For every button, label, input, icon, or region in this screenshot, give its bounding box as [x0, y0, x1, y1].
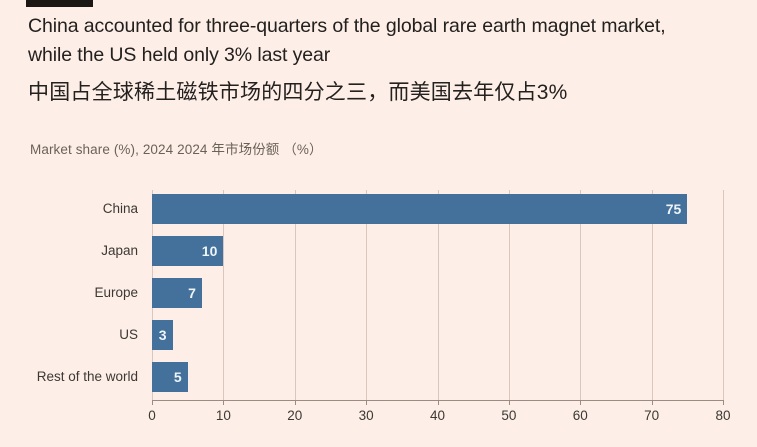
bar-value-rest-of-the-world: 5: [158, 362, 182, 392]
bar-row: US3: [152, 320, 723, 350]
category-label-us: US: [0, 320, 138, 350]
bar-value-japan: 10: [193, 236, 217, 266]
bar-row: Japan10: [152, 236, 723, 266]
x-tick-mark-40: [438, 400, 439, 405]
bar-chart: China75Japan10Europe7US3Rest of the worl…: [0, 176, 757, 438]
x-tick-mark-60: [580, 400, 581, 405]
x-tick-label-60: 60: [573, 408, 588, 423]
plot-area: China75Japan10Europe7US3Rest of the worl…: [152, 190, 723, 400]
x-tick-mark-20: [295, 400, 296, 405]
x-tick-label-20: 20: [287, 408, 302, 423]
bar-value-us: 3: [152, 320, 173, 350]
headline-english-line2: while the US held only 3% last year: [28, 44, 330, 66]
publisher-logo-crop: [26, 0, 93, 7]
bar-row: Europe7: [152, 278, 723, 308]
gridline-80: [723, 190, 724, 400]
category-label-rest-of-the-world: Rest of the world: [0, 362, 138, 392]
bar-row: Rest of the world5: [152, 362, 723, 392]
header-block: China accounted for three-quarters of th…: [28, 12, 740, 108]
x-tick-label-80: 80: [715, 408, 730, 423]
headline-english: China accounted for three-quarters of th…: [28, 12, 740, 70]
x-tick-mark-50: [509, 400, 510, 405]
x-tick-label-10: 10: [216, 408, 231, 423]
chart-subtitle: Market share (%), 2024 2024 年市场份额 （%）: [30, 138, 323, 158]
category-label-japan: Japan: [0, 236, 138, 266]
headline-english-line1: China accounted for three-quarters of th…: [28, 15, 666, 37]
x-tick-label-30: 30: [359, 408, 374, 423]
category-label-china: China: [0, 194, 138, 224]
bar-china[interactable]: [152, 194, 687, 224]
x-tick-label-40: 40: [430, 408, 445, 423]
x-tick-label-0: 0: [148, 408, 156, 423]
x-tick-mark-0: [152, 400, 153, 405]
category-label-europe: Europe: [0, 278, 138, 308]
x-tick-mark-30: [366, 400, 367, 405]
x-tick-label-70: 70: [644, 408, 659, 423]
bar-value-china: 75: [657, 194, 681, 224]
x-tick-mark-80: [723, 400, 724, 405]
x-tick-mark-10: [223, 400, 224, 405]
x-tick-label-50: 50: [501, 408, 516, 423]
headline-chinese: 中国占全球稀土磁铁市场的四分之三，而美国去年仅占3%: [28, 78, 740, 108]
bar-row: China75: [152, 194, 723, 224]
x-tick-mark-70: [652, 400, 653, 405]
bar-value-europe: 7: [172, 278, 196, 308]
